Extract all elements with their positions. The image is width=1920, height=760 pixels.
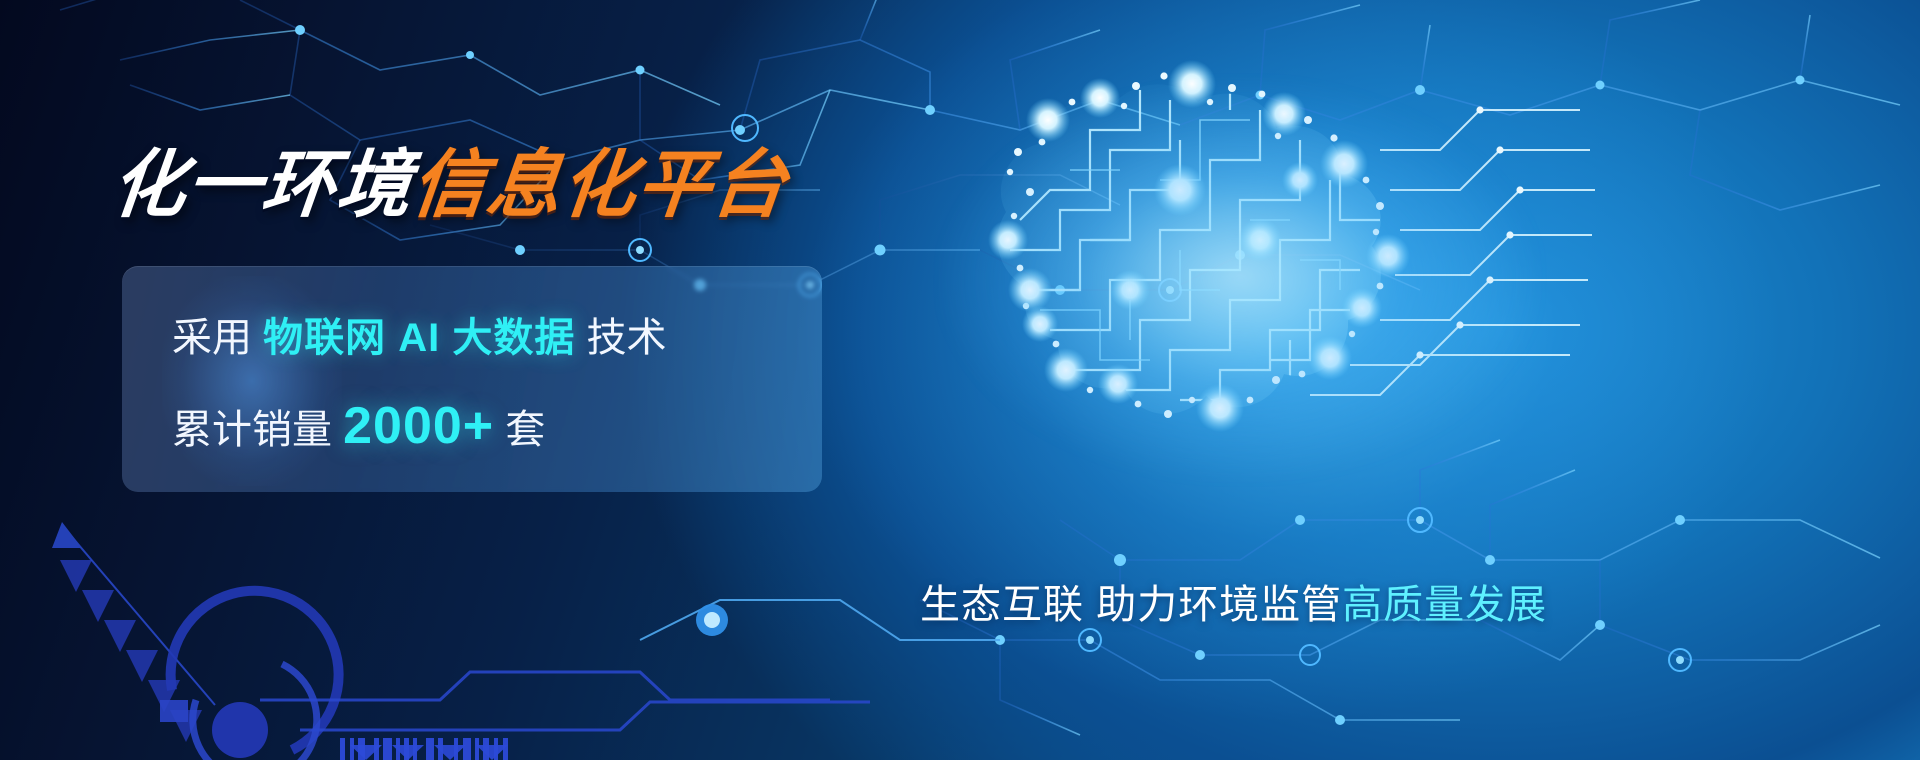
line1-prefix: 采用 (172, 316, 252, 360)
line2-prefix: 累计销量 (172, 408, 332, 452)
line2-suffix: 套 (505, 408, 545, 452)
title-white-part: 化一环境 (108, 143, 417, 226)
banner-tagline: 生态互联 助力环境监管高质量发展 (920, 585, 1547, 625)
feature-card-line-2: 累计销量 2000+ 套 (172, 400, 545, 452)
line1-highlight: 物联网 AI 大数据 (263, 316, 575, 360)
tagline-cyan-part: 高质量发展 (1342, 583, 1547, 627)
tagline-white-part: 生态互联 助力环境监管 (920, 583, 1342, 627)
hero-banner: 化一环境信息化平台 采用 物联网 AI 大数据 技术 累计销量 2000+ 套 … (0, 0, 1920, 760)
sales-count-value: 2000+ (343, 397, 494, 455)
line1-suffix: 技术 (586, 316, 666, 360)
feature-card: 采用 物联网 AI 大数据 技术 累计销量 2000+ 套 (122, 266, 822, 492)
feature-card-line-1: 采用 物联网 AI 大数据 技术 (172, 318, 666, 358)
ai-brain-graphic (880, 40, 1600, 510)
brain-glow (940, 80, 1540, 480)
banner-title: 化一环境信息化平台 (108, 148, 791, 222)
title-orange-part: 信息化平台 (408, 143, 792, 226)
